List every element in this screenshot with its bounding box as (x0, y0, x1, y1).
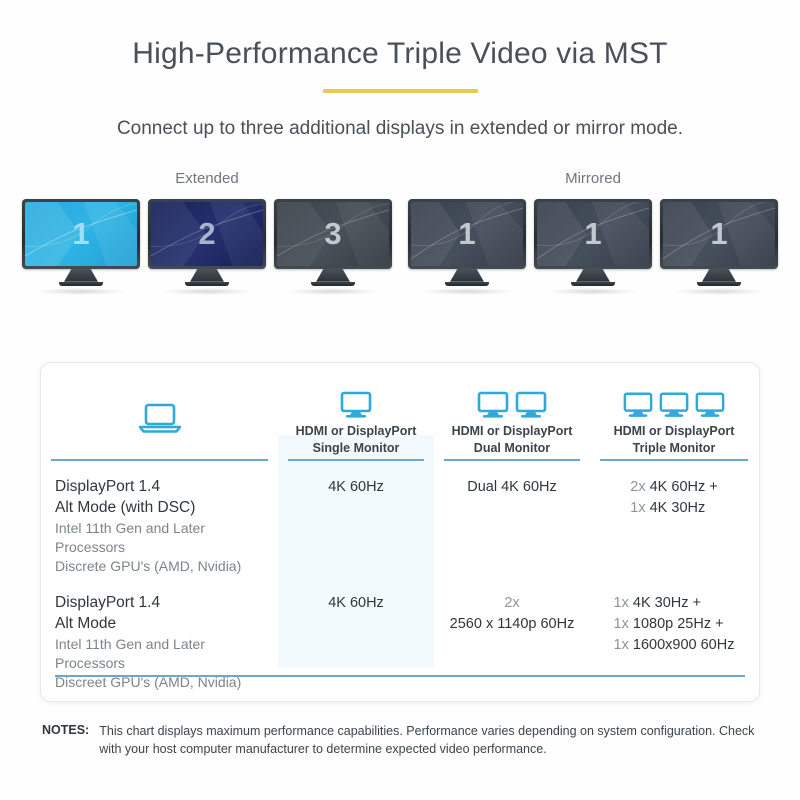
monitor-number: 1 (72, 218, 89, 249)
column-header-triple-monitor: HDMI or DisplayPort Triple Monitor (590, 363, 758, 461)
value-multiplier: 1x (630, 500, 645, 516)
laptop-icon (137, 402, 183, 434)
notes-label: NOTES: (42, 722, 89, 737)
value-line: 1x 4K 30Hz + (614, 593, 735, 614)
value-text: 4K 60Hz (328, 595, 384, 611)
monitor-screen: 1 (537, 202, 649, 266)
value-multiplier: 1x (614, 637, 629, 653)
table-header-row: HDMI or DisplayPort Single Monitor (41, 363, 759, 461)
monitor-shadow (673, 288, 765, 295)
row-dual-value: Dual 4K 60Hz (434, 461, 590, 577)
monitor-screen: 3 (277, 202, 389, 266)
column-header-single-monitor: HDMI or DisplayPort Single Monitor (278, 363, 434, 461)
monitor-stand (450, 269, 484, 282)
page-title: High-Performance Triple Video via MST (0, 36, 800, 72)
value-line: 1x 1080p 25Hz + (614, 614, 735, 635)
monitor-stand (190, 269, 224, 282)
monitor-base (185, 282, 229, 286)
column-label-line2: Single Monitor (278, 440, 434, 457)
row-triple-value: 2x 4K 60Hz + 1x 4K 30Hz (590, 461, 758, 577)
table-row: DisplayPort 1.4 Alt Mode (with DSC) Inte… (41, 461, 759, 577)
notes-text: This chart displays maximum performance … (99, 722, 766, 758)
value-text: 4K 60Hz + (650, 479, 718, 495)
monitor-graphic: 2 (148, 199, 266, 295)
monitor-number: 1 (710, 218, 727, 249)
monitor-icon (695, 391, 725, 419)
row-spec-cell: DisplayPort 1.4 Alt Mode (with DSC) Inte… (41, 461, 278, 577)
group-label-extended: Extended (22, 170, 392, 187)
value-multiplier: 2x (630, 479, 645, 495)
monitor-shadow (35, 288, 127, 295)
dual-monitor-icons (434, 375, 590, 419)
display-mode-group-mirrored: Mirrored 1 (408, 170, 778, 295)
column-header-dual-monitor: HDMI or DisplayPort Dual Monitor (434, 363, 590, 461)
value-multiplier: 1x (614, 595, 629, 611)
monitor-number: 3 (324, 218, 341, 249)
column-label-line2: Triple Monitor (590, 440, 758, 457)
monitor-frame: 1 (660, 199, 778, 269)
value-text: 1080p 25Hz + (633, 616, 724, 632)
display-mode-group-extended: Extended 1 (22, 170, 392, 295)
value-text: 4K 30Hz + (633, 595, 701, 611)
spec-line2: Alt Mode (with DSC) (55, 498, 270, 519)
row-single-value: 4K 60Hz (278, 461, 434, 577)
page-subtitle: Connect up to three additional displays … (0, 117, 800, 142)
compatibility-table: HDMI or DisplayPort Single Monitor (41, 363, 759, 701)
monitor-screen: 1 (663, 202, 775, 266)
infographic-page: High-Performance Triple Video via MST Co… (0, 0, 800, 800)
monitor-stand (316, 269, 350, 282)
monitor-frame: 1 (22, 199, 140, 269)
value-text: Dual 4K 60Hz (467, 479, 556, 495)
compatibility-card: HDMI or DisplayPort Single Monitor (40, 362, 760, 702)
accent-underline (323, 89, 478, 93)
spec-sub1: Intel 11th Gen and Later Processors (55, 635, 270, 673)
table-bottom-rule (55, 675, 745, 677)
value-line: 2x 4K 60Hz + (630, 477, 717, 498)
value-text: 1600x900 60Hz (633, 637, 735, 653)
monitor-base (697, 282, 741, 286)
column-label-line1: HDMI or DisplayPort (590, 423, 758, 440)
spec-line1: DisplayPort 1.4 (55, 477, 270, 498)
monitor-screen: 2 (151, 202, 263, 266)
spec-line2: Alt Mode (55, 614, 270, 635)
value-group: 1x 4K 30Hz + 1x 1080p 25Hz + 1x 1600x900… (614, 593, 735, 656)
monitor-icon (515, 391, 547, 419)
value-group: 2x 4K 60Hz + 1x 4K 30Hz (630, 477, 717, 519)
value-group: 2x 2560 x 1140p 60Hz (442, 593, 582, 635)
column-label-line1: HDMI or DisplayPort (278, 423, 434, 440)
laptop-icon-wrap (41, 375, 278, 461)
monitor-stand (64, 269, 98, 282)
monitor-shadow (547, 288, 639, 295)
monitor-row-extended: 1 (22, 199, 392, 295)
monitor-stand (576, 269, 610, 282)
monitor-graphic: 3 (274, 199, 392, 295)
monitor-number: 1 (584, 218, 601, 249)
monitor-number: 2 (198, 218, 215, 249)
spec-line1: DisplayPort 1.4 (55, 593, 270, 614)
value-text: 4K 60Hz (328, 479, 384, 495)
monitor-frame: 1 (534, 199, 652, 269)
monitor-graphic: 1 (534, 199, 652, 295)
value-multiplier: 1x (614, 616, 629, 632)
monitor-frame: 1 (408, 199, 526, 269)
monitor-base (311, 282, 355, 286)
single-monitor-icons (278, 375, 434, 419)
value-multiplier: 2x (442, 593, 582, 614)
monitor-graphic: 1 (660, 199, 778, 295)
monitor-graphic: 1 (408, 199, 526, 295)
value-text: 4K 30Hz (650, 500, 706, 516)
page-header: High-Performance Triple Video via MST Co… (0, 0, 800, 142)
monitor-icon (623, 391, 653, 419)
notes-section: NOTES: This chart displays maximum perfo… (42, 722, 766, 758)
triple-monitor-icons (590, 375, 758, 419)
display-mode-groups: Extended 1 (0, 142, 800, 295)
spec-sub2: Discrete GPU's (AMD, Nvidia) (55, 557, 270, 576)
spec-sub1: Intel 11th Gen and Later Processors (55, 519, 270, 557)
monitor-frame: 2 (148, 199, 266, 269)
monitor-stand (702, 269, 736, 282)
value-text: 2560 x 1140p 60Hz (442, 614, 582, 635)
monitor-shadow (421, 288, 513, 295)
monitor-base (59, 282, 103, 286)
value-line: 1x 1600x900 60Hz (614, 635, 735, 656)
value-line: 1x 4K 30Hz (630, 498, 717, 519)
monitor-base (571, 282, 615, 286)
monitor-graphic: 1 (22, 199, 140, 295)
column-label-line1: HDMI or DisplayPort (434, 423, 590, 440)
monitor-shadow (287, 288, 379, 295)
monitor-icon (659, 391, 689, 419)
monitor-base (445, 282, 489, 286)
monitor-row-mirrored: 1 (408, 199, 778, 295)
monitor-frame: 3 (274, 199, 392, 269)
monitor-number: 1 (458, 218, 475, 249)
monitor-screen: 1 (411, 202, 523, 266)
column-label-line2: Dual Monitor (434, 440, 590, 457)
monitor-shadow (161, 288, 253, 295)
group-label-mirrored: Mirrored (408, 170, 778, 187)
monitor-icon (340, 391, 372, 419)
monitor-icon (477, 391, 509, 419)
column-header-host (41, 363, 278, 461)
monitor-screen: 1 (25, 202, 137, 266)
